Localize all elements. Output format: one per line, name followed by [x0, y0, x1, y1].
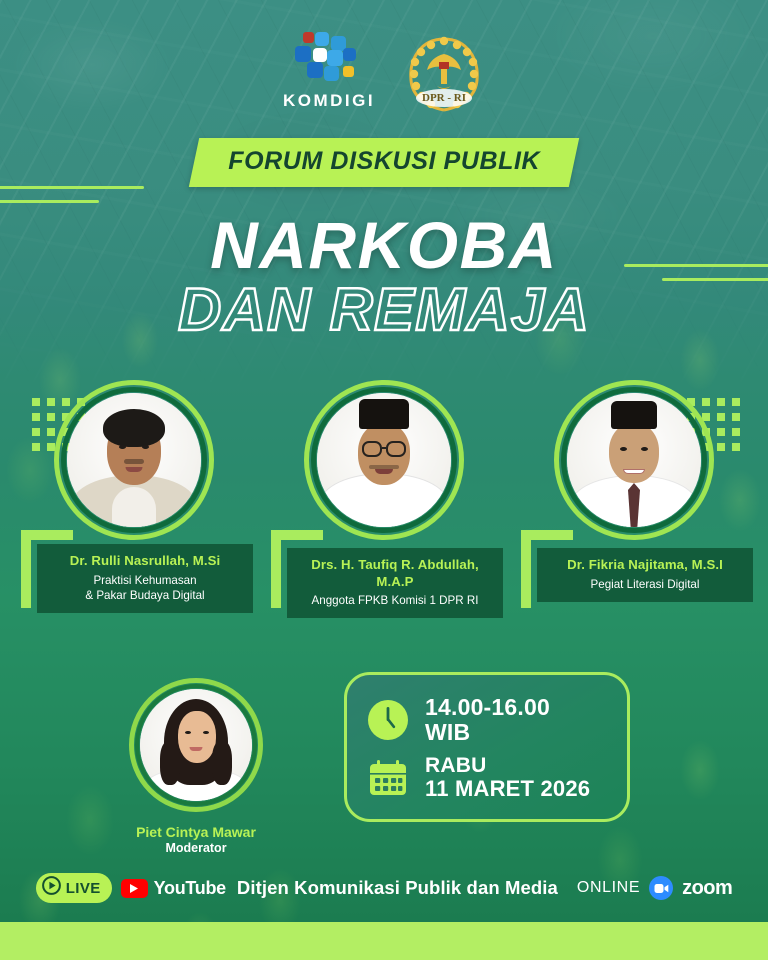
- youtube-label: YouTube: [154, 878, 226, 899]
- speaker-photo-3: [554, 380, 714, 540]
- moderator-photo: [129, 678, 263, 812]
- komdigi-logo: KOMDIGI: [275, 30, 383, 111]
- dpr-logo: DPR - RI: [401, 32, 493, 118]
- calendar-icon: [365, 757, 411, 799]
- speaker-portrait-3: [567, 393, 701, 527]
- moderator-portrait: [140, 689, 252, 801]
- forum-banner: FORUM DISKUSI PUBLIK: [189, 138, 579, 187]
- dpr-ri-emblem-icon: DPR - RI: [401, 32, 493, 118]
- schedule-time-line2: WIB: [425, 720, 550, 745]
- forum-banner-label: FORUM DISKUSI PUBLIK: [228, 147, 540, 176]
- schedule-date-line1: RABU: [425, 755, 590, 778]
- speaker-role-line1: Anggota FPKB Komisi 1 DPR RI: [295, 593, 495, 608]
- speaker-portrait-2: [317, 393, 451, 527]
- page-title: NARKOBA DAN REMAJA: [0, 214, 768, 341]
- speaker-card: Dr. Fikria Najitama, M.S.I Pegiat Litera…: [515, 380, 753, 608]
- speaker-name: Dr. Fikria Najitama, M.S.I: [545, 557, 745, 574]
- logo-row: KOMDIGI: [0, 30, 768, 118]
- zoom-camera-icon: [649, 876, 673, 900]
- speaker-plate-zone: Drs. H. Taufiq R. Abdullah, M.A.P Anggot…: [265, 522, 503, 608]
- schedule-date-line2: 11 MARET 2026: [425, 777, 590, 801]
- komdigi-logo-icon: [293, 30, 365, 88]
- clock-icon: [365, 699, 411, 741]
- speaker-portrait-1: [67, 393, 201, 527]
- moderator-card: Piet Cintya Mawar Moderator: [96, 678, 296, 855]
- speakers-row: Dr. Rulli Nasrullah, M.Si Praktisi Kehum…: [0, 380, 768, 608]
- channel-name: Ditjen Komunikasi Publik dan Media: [237, 877, 558, 899]
- zoom-label: zoom: [682, 877, 732, 900]
- schedule-time-line1: 14.00-16.00: [425, 695, 550, 720]
- speaker-name: Drs. H. Taufiq R. Abdullah, M.A.P: [295, 557, 495, 590]
- speaker-photo-2: [304, 380, 464, 540]
- moderator-role: Moderator: [96, 841, 296, 855]
- footer-strip: LIVE YouTube Ditjen Komunikasi Publik da…: [0, 866, 768, 910]
- live-label: LIVE: [66, 880, 101, 897]
- speaker-name: Dr. Rulli Nasrullah, M.Si: [45, 553, 245, 570]
- komdigi-wordmark: KOMDIGI: [283, 91, 375, 111]
- schedule-card: 14.00-16.00 WIB: [344, 672, 630, 822]
- play-circle-icon: [42, 876, 61, 900]
- schedule-date-row: RABU 11 MARET 2026: [365, 755, 613, 801]
- svg-text:DPR - RI: DPR - RI: [422, 92, 466, 104]
- online-label: ONLINE: [577, 879, 640, 897]
- speaker-card: Drs. H. Taufiq R. Abdullah, M.A.P Anggot…: [265, 380, 503, 608]
- title-line-2: DAN REMAJA: [0, 279, 768, 340]
- speaker-role-line2: & Pakar Budaya Digital: [45, 588, 245, 603]
- moderator-name: Piet Cintya Mawar: [96, 824, 296, 840]
- decor-lines-left: [0, 186, 174, 203]
- youtube-logo: YouTube: [121, 878, 226, 899]
- forum-banner-wrap: FORUM DISKUSI PUBLIK: [0, 138, 768, 187]
- speaker-role-line1: Praktisi Kehumasan: [45, 573, 245, 588]
- speaker-role-line1: Pegiat Literasi Digital: [545, 577, 745, 592]
- schedule-date-text: RABU 11 MARET 2026: [425, 755, 590, 801]
- live-badge: LIVE: [36, 873, 112, 903]
- schedule-time-row: 14.00-16.00 WIB: [365, 695, 613, 745]
- poster-canvas: KOMDIGI: [0, 0, 768, 960]
- bottom-accent-bar: [0, 922, 768, 960]
- schedule-time-text: 14.00-16.00 WIB: [425, 695, 550, 745]
- speaker-plate-zone: Dr. Fikria Najitama, M.S.I Pegiat Litera…: [515, 522, 753, 608]
- speaker-name-plate: Drs. H. Taufiq R. Abdullah, M.A.P Anggot…: [287, 548, 503, 618]
- speaker-plate-zone: Dr. Rulli Nasrullah, M.Si Praktisi Kehum…: [15, 522, 253, 608]
- youtube-play-icon: [121, 879, 148, 898]
- speaker-photo-1: [54, 380, 214, 540]
- speaker-name-plate: Dr. Rulli Nasrullah, M.Si Praktisi Kehum…: [37, 544, 253, 613]
- speaker-card: Dr. Rulli Nasrullah, M.Si Praktisi Kehum…: [15, 380, 253, 608]
- title-line-1: NARKOBA: [0, 214, 768, 277]
- speaker-name-plate: Dr. Fikria Najitama, M.S.I Pegiat Litera…: [537, 548, 753, 602]
